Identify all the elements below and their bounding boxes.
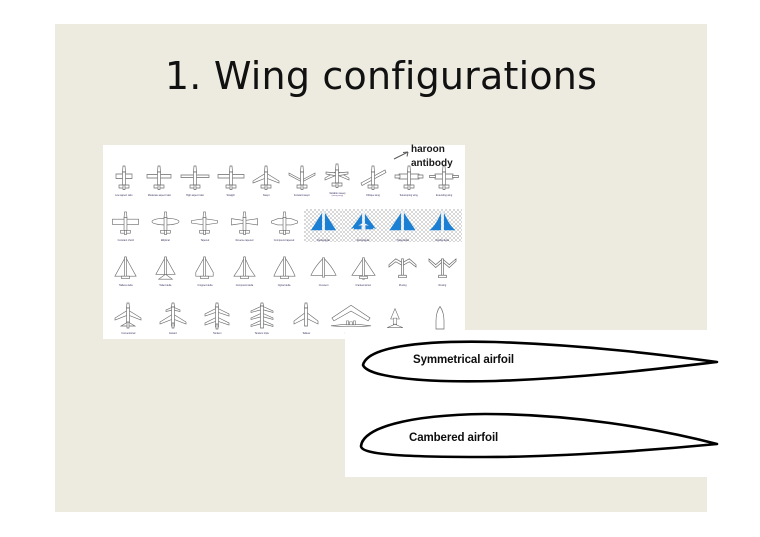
wing-cell-label: Forward swept [284, 194, 320, 197]
aircraft-top-view-icon [225, 209, 265, 238]
aircraft-top-view-icon [284, 301, 329, 331]
wing-cell-label: Crescent [304, 284, 344, 287]
wing-cell-label: Conventional [106, 332, 151, 335]
wing-cell-tapered: Tapered [185, 209, 225, 242]
wing-cell-label: Moderate aspect ratio [142, 194, 178, 197]
haroon-antibody-annotation: haroon antibody [411, 143, 453, 170]
delta-wing-icon [423, 209, 463, 238]
aircraft-top-view-icon [106, 301, 151, 331]
wing-cell-tandem-triple: Tandem triple [240, 301, 285, 335]
wing-cell-label: Ogival delta [264, 284, 304, 287]
aircraft-top-view-icon [142, 163, 178, 193]
aircraft-top-view-icon [146, 209, 186, 238]
wing-cell-label: M-wing [383, 284, 423, 287]
wing-chart-row-tail-configurations: Conventional [106, 289, 462, 335]
wing-cell-label: High aspect ratio [177, 194, 213, 197]
symmetrical-airfoil-label: Symmetrical airfoil [413, 354, 514, 366]
delta-wing-icon [383, 209, 423, 238]
wing-cell-constant-chord: Constant chord [106, 209, 146, 242]
aircraft-top-view-icon [284, 163, 320, 193]
cambered-airfoil-figure: Cambered airfoil [345, 406, 760, 468]
aircraft-top-view-icon [106, 163, 142, 193]
aircraft-top-view-icon [146, 254, 186, 283]
aircraft-top-view-icon [304, 254, 344, 283]
wing-chart-row-planform: Constant chord [106, 200, 462, 242]
wing-cell-blue-delta-4: Double delta [423, 209, 463, 242]
wing-cell-high-aspect-ratio: High aspect ratio [177, 163, 213, 197]
flying-wing-icon [329, 301, 374, 331]
wing-cell-label: Canard [151, 332, 196, 335]
aircraft-top-view-icon [248, 163, 284, 193]
wing-cell-cropped-delta: Cropped delta [185, 254, 225, 287]
wing-cell-label: Oblique wing [355, 194, 391, 197]
wing-cell-label: Variable sweep [320, 192, 356, 195]
arrow-pointer-icon [393, 151, 411, 161]
wing-cell-elliptical: Elliptical [146, 209, 186, 242]
wing-cell-label: Reverse tapered [225, 239, 265, 242]
airfoil-diagram-panel: Symmetrical airfoil Cambered airfoil [345, 330, 760, 477]
wing-cell-w-wing: W-wing [423, 254, 463, 287]
wing-cell-label: Tandem triple [240, 332, 285, 335]
wing-cell-label: Tailless [284, 332, 329, 335]
wing-cell-compound-tapered: Compound tapered [264, 209, 304, 242]
aircraft-top-view-icon [185, 209, 225, 238]
wing-chart-row-delta-variants: Tailless delta Tailed delta [106, 245, 462, 287]
wing-cell-oblique-wing: Oblique wing [355, 163, 391, 197]
wing-cell-reverse-tapered: Reverse tapered [225, 209, 265, 242]
wing-cell-forward-swept: Forward swept [284, 163, 320, 197]
wing-cell-label: Low aspect ratio [106, 194, 142, 197]
wing-cell-label: Telescoping wing [391, 194, 427, 197]
page-title: 1. Wing configurations [55, 56, 707, 98]
wing-cell-label: Swept [248, 194, 284, 197]
wing-cell-crescent: Crescent [304, 254, 344, 287]
wing-cell-swept: Swept [248, 163, 284, 197]
symmetrical-airfoil-shape [345, 332, 760, 394]
cambered-airfoil-label: Cambered airfoil [409, 432, 498, 444]
delta-wing-icon [304, 209, 344, 238]
wing-cell-label: Double delta [423, 239, 463, 242]
wing-cell-compound-delta: Compound delta [225, 254, 265, 287]
aircraft-top-view-icon [320, 161, 356, 191]
aircraft-top-view-icon [106, 209, 146, 238]
wing-cell-label: Tapered [185, 239, 225, 242]
wing-cell-cranked-arrow: Cranked arrow [343, 254, 383, 287]
aircraft-top-view-icon [177, 163, 213, 193]
wing-cell-low-aspect-ratio: Low aspect ratio [106, 163, 142, 197]
wing-cell-straight: Straight [213, 163, 249, 197]
wing-cell-tailless-delta: Tailless delta [106, 254, 146, 287]
aircraft-top-view-icon [264, 209, 304, 238]
aircraft-top-view-icon [383, 254, 423, 283]
wing-cell-label: Compound tapered [264, 239, 304, 242]
aircraft-top-view-icon [106, 254, 146, 283]
wing-chart-grid: Low aspect ratio [106, 147, 462, 337]
wing-cell-label: Elliptical [146, 239, 186, 242]
aircraft-top-view-icon [343, 254, 383, 283]
aircraft-top-view-icon [264, 254, 304, 283]
aircraft-top-view-icon [185, 254, 225, 283]
wing-cell-blue-delta-2: Rectangular [343, 209, 383, 242]
aircraft-top-view-icon [225, 254, 265, 283]
wing-cell-tailed-delta: Tailed delta [146, 254, 186, 287]
wing-cell-label: Cropped delta [185, 284, 225, 287]
wing-cell-label: Trapezoidal [383, 239, 423, 242]
wing-cell-label: Tailed delta [146, 284, 186, 287]
wing-cell-m-wing: M-wing [383, 254, 423, 287]
wing-cell-label: W-wing [423, 284, 463, 287]
wing-cell-label: Tailless delta [106, 284, 146, 287]
wing-cell-label: Extending wing [426, 194, 462, 197]
wing-cell-label: Constant chord [106, 239, 146, 242]
wing-cell-label: Cranked arrow [343, 284, 383, 287]
wing-cell-ogival-delta: Ogival delta [264, 254, 304, 287]
symmetrical-airfoil-figure: Symmetrical airfoil [345, 332, 760, 394]
wing-cell-blue-delta-3: Trapezoidal [383, 209, 423, 242]
wing-cell-moderate-aspect-ratio: Moderate aspect ratio [142, 163, 178, 197]
wing-configurations-diagram: Low aspect ratio [103, 145, 465, 339]
aircraft-top-view-icon [151, 301, 196, 331]
wing-cell-label: Straight [213, 194, 249, 197]
wing-cell-label: Tandem [195, 332, 240, 335]
aircraft-top-view-icon [195, 301, 240, 331]
cambered-airfoil-shape [345, 406, 760, 468]
wing-cell-tandem: Tandem [195, 301, 240, 335]
aircraft-top-view-icon [240, 301, 285, 331]
wing-cell-sublabel: (swing wing) [320, 195, 356, 198]
wing-cell-label: Rectangular [343, 239, 383, 242]
wing-cell-label: Compound delta [225, 284, 265, 287]
wing-cell-canard: Canard [151, 301, 196, 335]
delta-wing-icon [343, 209, 383, 238]
wing-cell-label: Rectangular [304, 239, 344, 242]
aircraft-top-view-icon [213, 163, 249, 193]
aircraft-top-view-icon [423, 254, 463, 283]
wing-cell-blue-delta-1: Rectangular [304, 209, 344, 242]
wing-cell-variable-sweep: Variable sweep (swing wing) [320, 161, 356, 198]
aircraft-top-view-icon [355, 163, 391, 193]
wing-cell-tailless: Tailless [284, 301, 329, 335]
wing-cell-conventional: Conventional [106, 301, 151, 335]
